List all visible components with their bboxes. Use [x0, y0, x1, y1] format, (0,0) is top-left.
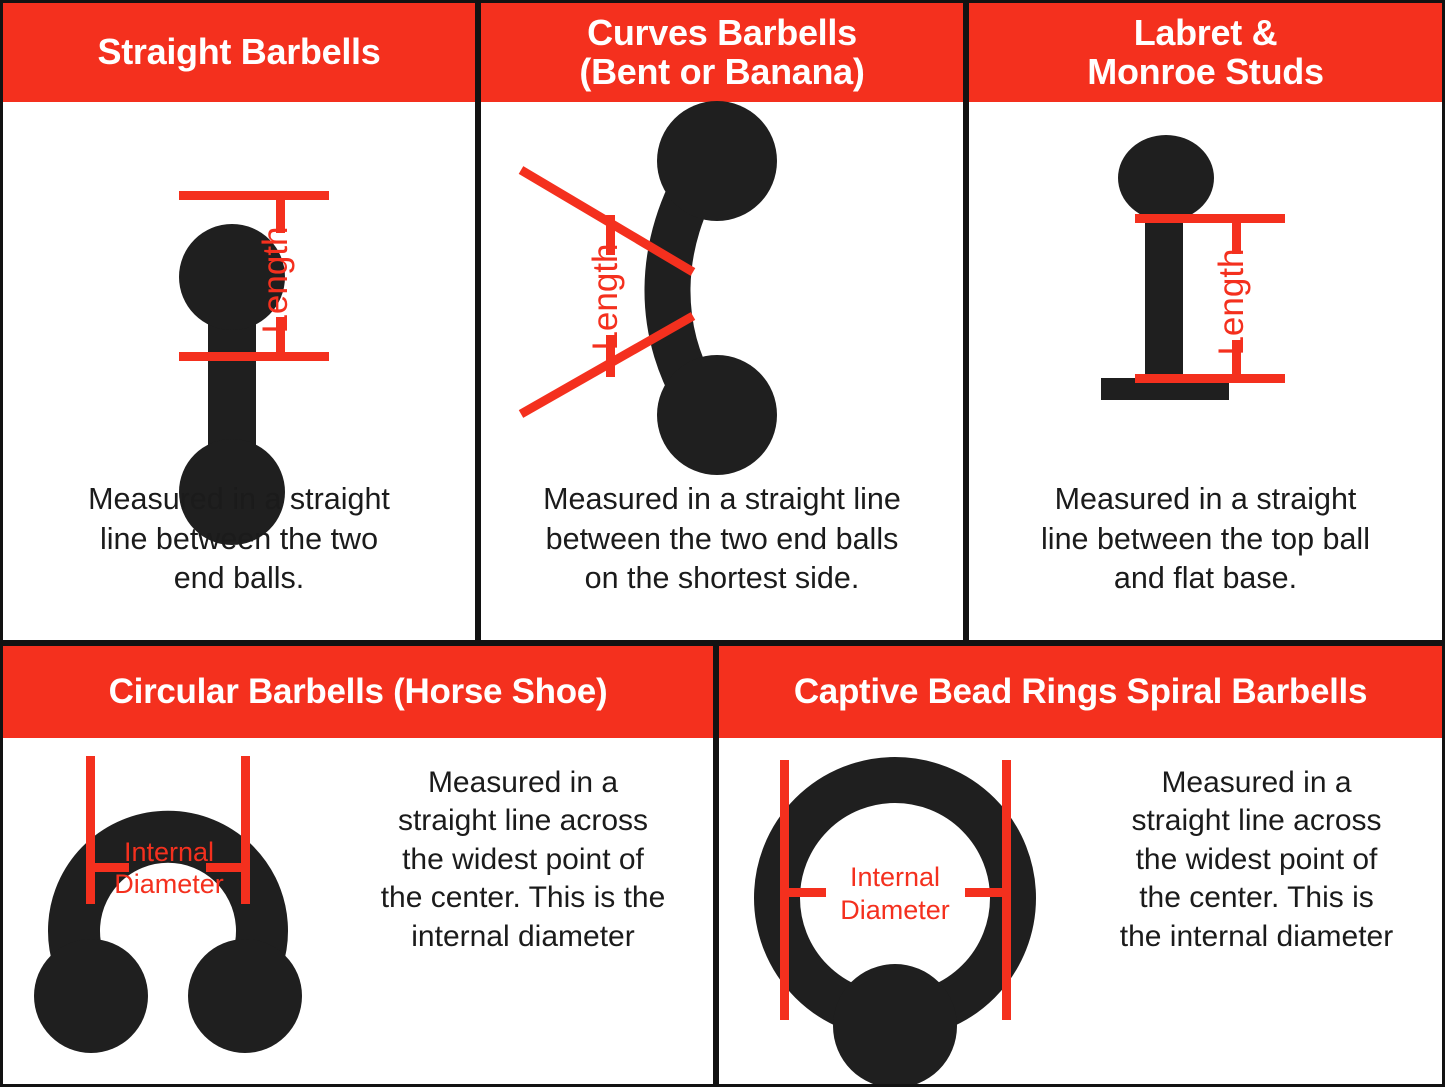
panel-body-straight-barbells: Length Measured in a straight line betwe…: [3, 102, 475, 640]
panel-curved-barbells: Curves Barbells (Bent or Banana) Leng: [478, 0, 966, 643]
dimension-label-diameter-line2: Diameter: [840, 895, 950, 925]
panel-straight-barbells: Straight Barbells Length: [0, 0, 478, 643]
panel-title-circular-barbells: Circular Barbells (Horse Shoe): [3, 646, 713, 738]
panel-captive-bead-rings: Captive Bead Rings Spiral Barbells Inter…: [716, 643, 1445, 1087]
panel-title-labret-monroe-studs: Labret & Monroe Studs: [969, 3, 1442, 102]
caption-circular-barbells: Measured in a straight line across the w…: [333, 738, 713, 956]
caption-captive-bead-rings: Measured in a straight line across the w…: [1071, 738, 1442, 956]
panel-title-curved-barbells: Curves Barbells (Bent or Banana): [481, 3, 963, 102]
panel-circular-barbells: Circular Barbells (Horse Shoe) Intern: [0, 643, 716, 1087]
piercing-size-guide-infographic: Straight Barbells Length: [0, 0, 1445, 1087]
dimension-label-length-curved: Length: [586, 243, 625, 350]
dimension-label-diameter-line2: Diameter: [114, 869, 224, 899]
dimension-label-length-labret: Length: [1212, 248, 1251, 355]
horseshoe-barbell-diagram: Internal Diameter: [3, 738, 333, 1086]
panel-title-captive-bead-rings: Captive Bead Rings Spiral Barbells: [719, 646, 1442, 738]
straight-barbell-diagram: Length: [3, 102, 475, 492]
dimension-label-internal-line1: Internal: [850, 862, 940, 892]
panel-body-captive-bead-rings: Internal Diameter Measured in a straight…: [719, 738, 1442, 1084]
captive-bead-ring-diagram: Internal Diameter: [719, 738, 1071, 1087]
curved-barbell-diagram: Length: [481, 102, 963, 492]
caption-labret-monroe-studs: Measured in a straight line between the …: [969, 480, 1442, 599]
panel-labret-monroe-studs: Labret & Monroe Studs Leng: [966, 0, 1445, 643]
panel-body-curved-barbells: Length Measured in a straight line betwe…: [481, 102, 963, 640]
panel-body-circular-barbells: Internal Diameter Measured in a straight…: [3, 738, 713, 1084]
panel-body-labret-monroe-studs: Length Measured in a straight line betwe…: [969, 102, 1442, 640]
caption-straight-barbells: Measured in a straight line between the …: [3, 480, 475, 599]
dimension-label-internal-line1: Internal: [124, 837, 214, 867]
dimension-label-length-straight: Length: [256, 226, 295, 333]
panel-title-straight-barbells: Straight Barbells: [3, 3, 475, 102]
caption-curved-barbells: Measured in a straight line between the …: [481, 480, 963, 599]
labret-stud-diagram: Length: [969, 102, 1442, 492]
